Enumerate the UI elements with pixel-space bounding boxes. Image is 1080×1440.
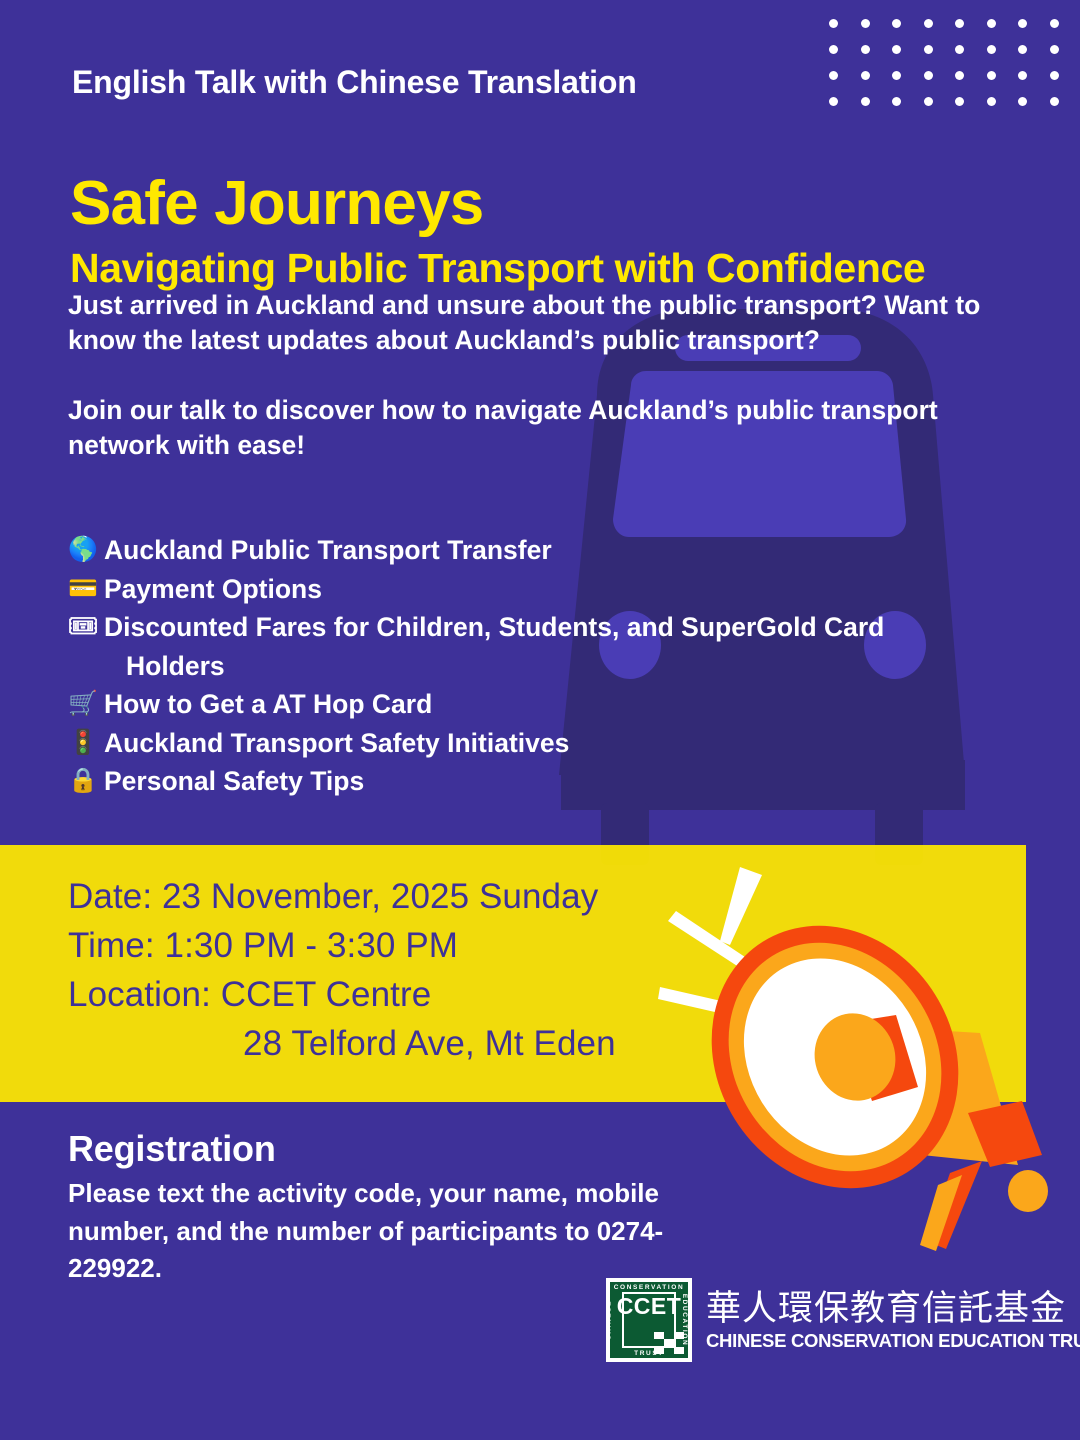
- topic-list: 🌎 Auckland Public Transport Transfer 💳 P…: [68, 531, 1028, 801]
- dot: [924, 19, 933, 28]
- dot: [1018, 71, 1027, 80]
- page-title: Safe Journeys: [70, 168, 483, 240]
- dot: [1050, 71, 1059, 80]
- dot: [955, 97, 964, 106]
- ticket-icon: 🎟: [68, 608, 104, 647]
- intro-paragraph-2: Join our talk to discover how to navigat…: [68, 393, 998, 463]
- list-item-label: Payment Options: [104, 570, 1028, 609]
- dot: [924, 97, 933, 106]
- dot: [987, 71, 996, 80]
- list-item: 💳 Payment Options: [68, 570, 1028, 609]
- dot: [829, 97, 838, 106]
- shopping-cart-icon: 🛒: [68, 685, 104, 724]
- dot: [1018, 97, 1027, 106]
- dot: [955, 19, 964, 28]
- dot: [1050, 97, 1059, 106]
- dot: [861, 71, 870, 80]
- ccet-logo-mark: CONSERVATION CHINESE EDUCATION TRUST CCE…: [606, 1278, 692, 1362]
- dot: [955, 45, 964, 54]
- list-item-label: How to Get a AT Hop Card: [104, 685, 1028, 724]
- event-address: 28 Telford Ave, Mt Eden: [68, 1019, 768, 1068]
- poster-canvas: English Talk with Chinese Translation Sa…: [0, 0, 1080, 1440]
- list-item: 🛒 How to Get a AT Hop Card: [68, 685, 1028, 724]
- ccet-logo-lockup: CONSERVATION CHINESE EDUCATION TRUST CCE…: [606, 1278, 1080, 1362]
- dot: [987, 45, 996, 54]
- logo-wordmark: 華人環保教育信託基金 CHINESE CONSERVATION EDUCATIO…: [706, 1288, 1080, 1352]
- dot-grid-decoration: [818, 10, 1070, 115]
- dot: [892, 71, 901, 80]
- dot: [924, 71, 933, 80]
- registration-instructions: Please text the activity code, your name…: [68, 1175, 708, 1288]
- dot: [829, 19, 838, 28]
- registration-heading: Registration: [68, 1128, 276, 1170]
- dot: [861, 97, 870, 106]
- list-item: 🚦 Auckland Transport Safety Initiatives: [68, 724, 1028, 763]
- dot: [829, 71, 838, 80]
- list-item-label: Discounted Fares for Children, Students,…: [104, 608, 1028, 685]
- list-item-label: Auckland Public Transport Transfer: [104, 531, 1028, 570]
- dot: [829, 45, 838, 54]
- logo-checker-pattern: [654, 1332, 684, 1354]
- dot: [892, 19, 901, 28]
- event-details-text: Date: 23 November, 2025 Sunday Time: 1:3…: [68, 872, 768, 1068]
- credit-card-icon: 💳: [68, 570, 104, 609]
- dot: [987, 19, 996, 28]
- dot: [1018, 19, 1027, 28]
- page-subtitle: Navigating Public Transport with Confide…: [70, 243, 925, 293]
- logo-ring-top: CONSERVATION: [606, 1284, 692, 1291]
- dot: [1050, 19, 1059, 28]
- dot: [861, 45, 870, 54]
- dot: [955, 71, 964, 80]
- logo-acronym: CCET: [606, 1295, 692, 1318]
- dot: [892, 45, 901, 54]
- intro-paragraph-1: Just arrived in Auckland and unsure abou…: [68, 288, 998, 358]
- dot: [1018, 45, 1027, 54]
- event-date: Date: 23 November, 2025 Sunday: [68, 872, 768, 921]
- event-time: Time: 1:30 PM - 3:30 PM: [68, 921, 768, 970]
- lock-icon: 🔒: [68, 762, 104, 801]
- list-item: 🌎 Auckland Public Transport Transfer: [68, 531, 1028, 570]
- dot: [924, 45, 933, 54]
- list-item: 🎟 Discounted Fares for Children, Student…: [68, 608, 1028, 685]
- kicker-text: English Talk with Chinese Translation: [72, 64, 637, 101]
- list-item-label: Personal Safety Tips: [104, 762, 1028, 801]
- dot: [1050, 45, 1059, 54]
- dot: [861, 19, 870, 28]
- logo-english-name: CHINESE CONSERVATION EDUCATION TRUST: [706, 1330, 1080, 1352]
- intro-copy: Just arrived in Auckland and unsure abou…: [68, 288, 998, 463]
- list-item: 🔒 Personal Safety Tips: [68, 762, 1028, 801]
- list-item-label-continuation: Holders: [104, 647, 1028, 686]
- logo-chinese-name: 華人環保教育信託基金: [706, 1288, 1080, 1330]
- dot: [892, 97, 901, 106]
- traffic-light-icon: 🚦: [68, 724, 104, 763]
- list-item-label: Auckland Transport Safety Initiatives: [104, 724, 1028, 763]
- dot: [987, 97, 996, 106]
- globe-americas-icon: 🌎: [68, 531, 104, 570]
- event-location: Location: CCET Centre: [68, 970, 768, 1019]
